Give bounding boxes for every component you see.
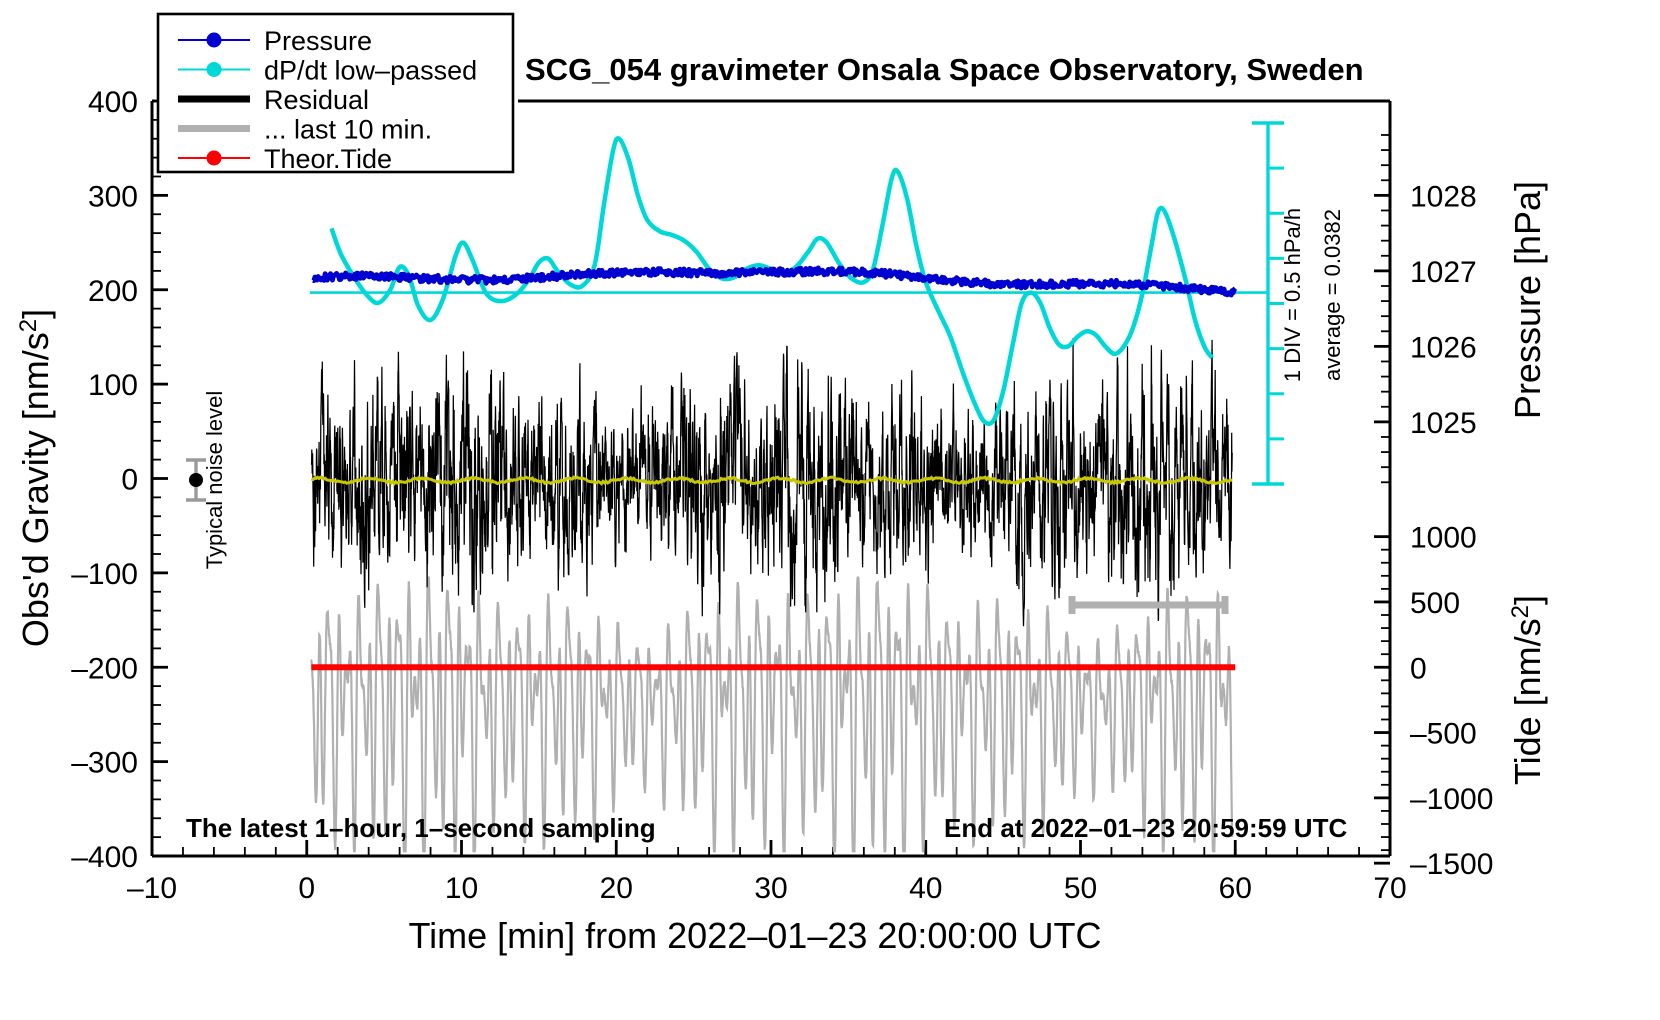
page-title: SCG_054 gravimeter Onsala Space Observat… xyxy=(525,52,1364,87)
left-tick-label: –400 xyxy=(71,841,138,874)
x-tick-label: 70 xyxy=(1373,872,1406,905)
right-axis-title-pressure: Pressure [hPa] xyxy=(1507,181,1548,419)
legend-label[interactable]: dP/dt low–passed xyxy=(264,56,477,86)
x-tick-label: 20 xyxy=(600,872,633,905)
tide-tick-label: 500 xyxy=(1410,587,1460,620)
legend-label[interactable]: Pressure xyxy=(264,26,372,56)
right-axis-title-tide: Tide [nm/s2] xyxy=(1507,595,1548,785)
legend-label[interactable]: Residual xyxy=(264,85,369,115)
typical-noise-level-label: Typical noise level xyxy=(202,391,227,570)
pressure-tick-label: 1027 xyxy=(1410,256,1477,289)
left-axis-title: Obs'd Gravity [nm/s2] xyxy=(15,309,56,647)
x-tick-label: –10 xyxy=(127,872,177,905)
x-tick-label: 30 xyxy=(754,872,787,905)
left-tick-label: 200 xyxy=(88,275,138,308)
tide-tick-label: 1000 xyxy=(1410,522,1477,555)
left-tick-label: 0 xyxy=(121,464,138,497)
x-tick-label: 50 xyxy=(1064,872,1097,905)
left-tick-label: –100 xyxy=(71,558,138,591)
left-tick-label: 400 xyxy=(88,86,138,119)
footer-left-annotation: The latest 1–hour, 1–second sampling xyxy=(186,813,656,843)
left-tick-label: 100 xyxy=(88,369,138,402)
pressure-tick-label: 1028 xyxy=(1410,180,1477,213)
legend-marker-dot xyxy=(207,62,222,77)
left-tick-label: –300 xyxy=(71,747,138,780)
left-tick-label: –200 xyxy=(71,652,138,685)
tide-tick-label: –500 xyxy=(1410,718,1477,751)
plot-canvas: 4003002001000–100–200–300–400 –100102030… xyxy=(0,0,1660,1020)
tide-tick-label: 0 xyxy=(1410,652,1427,685)
tide-tick-label: –1500 xyxy=(1410,848,1493,881)
pressure-tick-label: 1025 xyxy=(1410,407,1477,440)
x-axis-title: Time [min] from 2022–01–23 20:00:00 UTC xyxy=(408,915,1101,956)
tide-tick-label: –1000 xyxy=(1410,783,1493,816)
legend[interactable]: PressuredP/dt low–passedResidual... last… xyxy=(158,14,513,174)
legend-label[interactable]: Theor.Tide xyxy=(264,144,392,174)
legend-marker-dot xyxy=(207,33,222,48)
scalebar-label-average: average = 0.0382 xyxy=(1320,209,1345,381)
legend-label[interactable]: ... last 10 min. xyxy=(264,115,432,145)
gravimeter-chart: 4003002001000–100–200–300–400 –100102030… xyxy=(0,0,1660,1020)
scalebar-label-div: 1 DIV = 0.5 hPa/h xyxy=(1280,208,1305,382)
x-tick-label: 40 xyxy=(909,872,942,905)
x-tick-label: 60 xyxy=(1219,872,1252,905)
x-tick-label: 0 xyxy=(298,872,315,905)
footer-right-annotation: End at 2022–01–23 20:59:59 UTC xyxy=(944,813,1347,843)
x-tick-label: 10 xyxy=(445,872,478,905)
left-tick-label: 300 xyxy=(88,180,138,213)
legend-marker-dot xyxy=(207,151,222,166)
pressure-tick-label: 1026 xyxy=(1410,331,1477,364)
